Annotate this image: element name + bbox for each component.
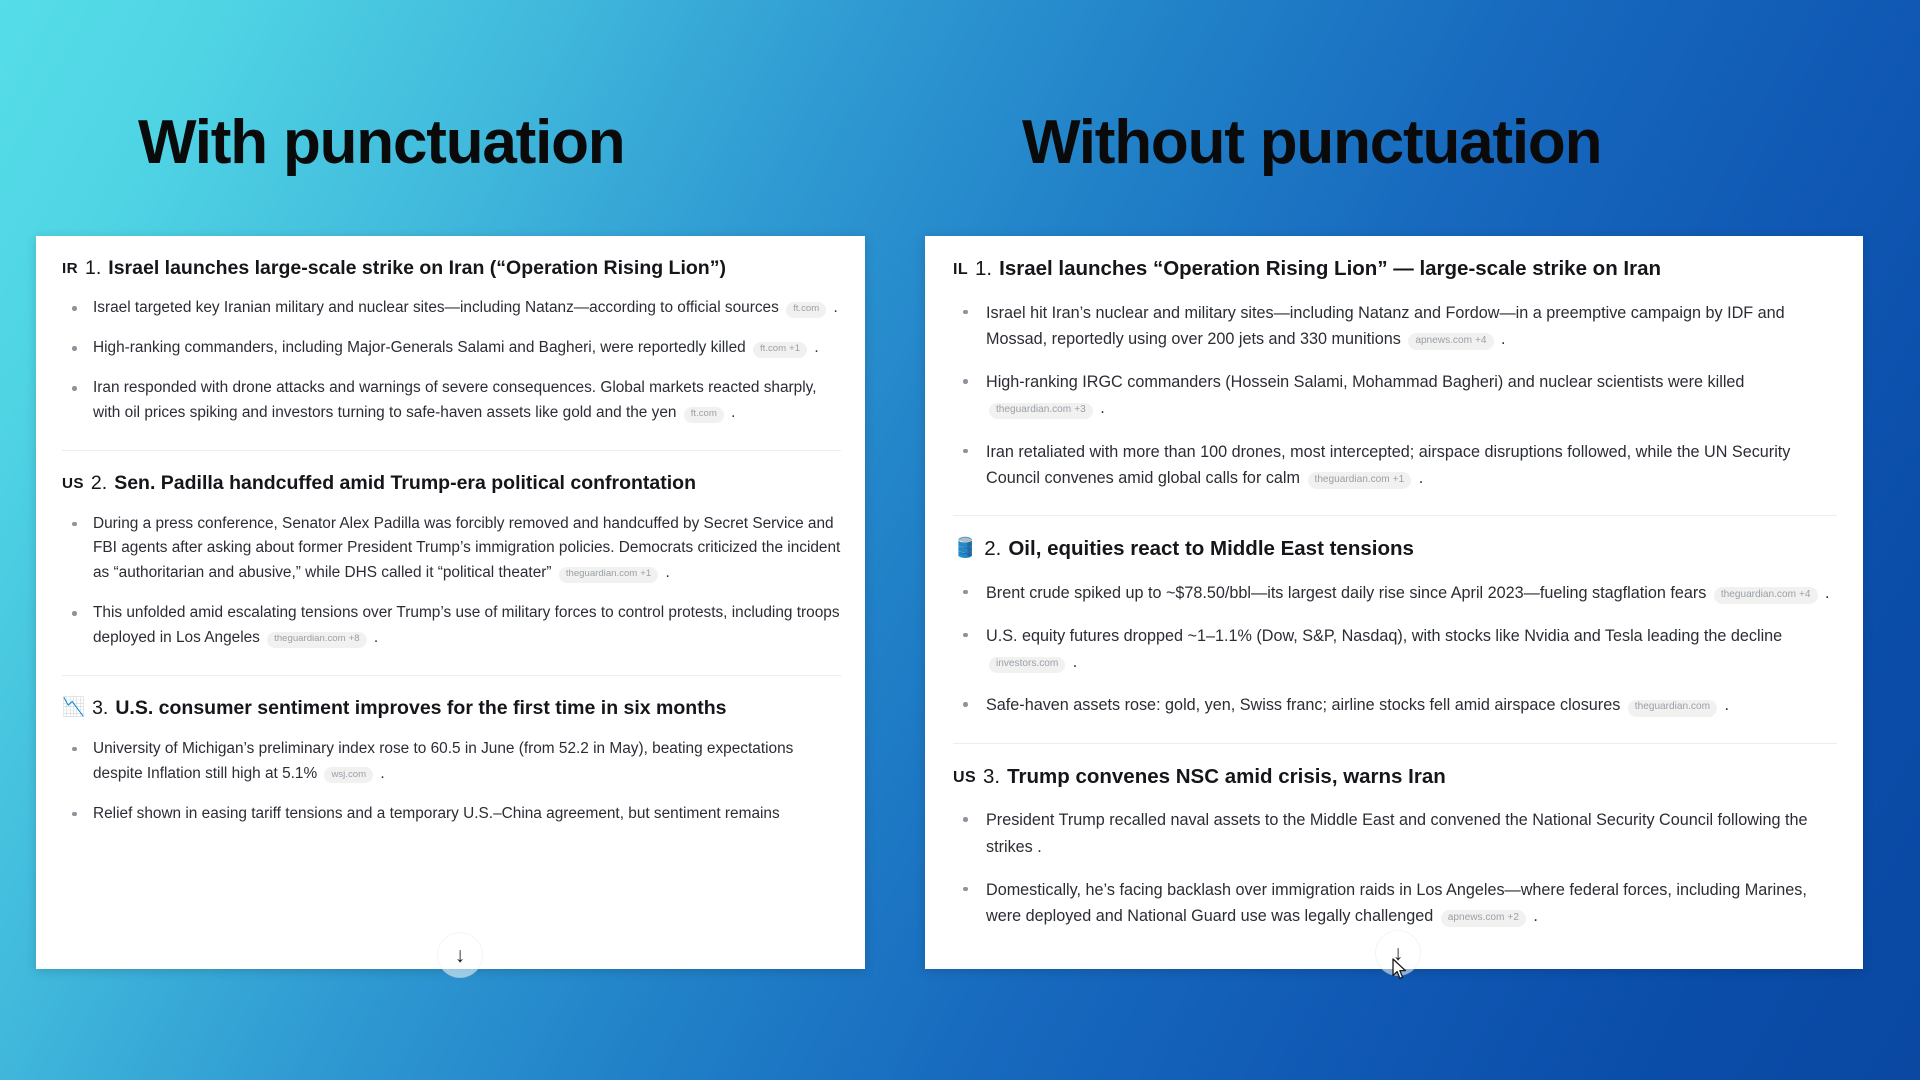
citation-source: theguardian.com (1635, 701, 1710, 712)
bullet-text: This unfolded amid escalating tensions o… (93, 604, 840, 646)
section-heading: IL1.Israel launches “Operation Rising Li… (953, 236, 1837, 283)
bullet-trailing-punctuation: . (661, 564, 670, 581)
bullet-list: Israel targeted key Iranian military and… (62, 296, 841, 426)
citation-chip[interactable]: ft.com (786, 302, 826, 318)
citation-count: +4 (1799, 589, 1811, 600)
section-title: U.S. consumer sentiment improves for the… (115, 696, 841, 721)
section-heading: US3.Trump convenes NSC amid crisis, warn… (953, 744, 1837, 791)
news-section: US3.Trump convenes NSC amid crisis, warn… (925, 744, 1863, 930)
bullet-item: Iran retaliated with more than 100 drone… (953, 439, 1837, 491)
bullet-trailing-punctuation: . (1096, 399, 1105, 417)
bullet-item: University of Michigan’s preliminary ind… (62, 737, 841, 787)
citation-source: ft.com (793, 303, 819, 314)
bullet-item: Domestically, he’s facing backlash over … (953, 877, 1837, 929)
bullet-list: University of Michigan’s preliminary ind… (62, 737, 841, 827)
bullet-text: Israel hit Iran’s nuclear and military s… (986, 304, 1785, 348)
citation-count: +2 (1507, 912, 1519, 923)
section-heading: 🛢️2.Oil, equities react to Middle East t… (953, 516, 1837, 563)
news-section: US2.Sen. Padilla handcuffed amid Trump-e… (36, 451, 865, 651)
oil-drum-icon: 🛢️ (953, 536, 977, 561)
citation-source: apnews.com (1448, 912, 1505, 923)
bullet-text: During a press conference, Senator Alex … (93, 515, 840, 582)
citation-count: +3 (1074, 404, 1086, 415)
bullet-item: Iran responded with drone attacks and wa… (62, 376, 841, 426)
section-number: 1. (85, 256, 101, 281)
bullet-item: Israel targeted key Iranian military and… (62, 296, 841, 321)
bullet-text: Domestically, he’s facing backlash over … (986, 881, 1807, 925)
bullet-trailing-punctuation: . (1414, 469, 1423, 487)
bullet-list: Brent crude spiked up to ~$78.50/bbl—its… (953, 580, 1837, 719)
citation-chip[interactable]: wsj.com (324, 767, 373, 783)
bullet-item: President Trump recalled naval assets to… (953, 807, 1837, 859)
bullet-trailing-punctuation: . (1529, 907, 1538, 925)
bullet-text: President Trump recalled naval assets to… (986, 811, 1808, 855)
bullet-text: Brent crude spiked up to ~$78.50/bbl—its… (986, 584, 1706, 602)
left-card-content: IR1.Israel launches large-scale strike o… (36, 236, 865, 969)
citation-chip[interactable]: apnews.com+4 (1408, 333, 1493, 350)
bullet-item: Safe-haven assets rose: gold, yen, Swiss… (953, 692, 1837, 718)
bullet-text: Safe-haven assets rose: gold, yen, Swiss… (986, 696, 1620, 714)
citation-source: theguardian.com (1721, 589, 1796, 600)
citation-source: ft.com (691, 408, 717, 419)
bullet-trailing-punctuation: . (1497, 330, 1506, 348)
citation-chip[interactable]: theguardian.com+1 (1308, 472, 1412, 489)
bullet-list: Israel hit Iran’s nuclear and military s… (953, 300, 1837, 491)
bullet-trailing-punctuation: . (810, 339, 819, 356)
section-number: 3. (92, 696, 108, 721)
section-number: 3. (983, 764, 1000, 791)
left-answer-card[interactable]: IR1.Israel launches large-scale strike o… (36, 236, 865, 969)
bullet-text: High-ranking IRGC commanders (Hossein Sa… (986, 373, 1744, 391)
bullet-item: High-ranking commanders, including Major… (62, 336, 841, 361)
bullet-list: During a press conference, Senator Alex … (62, 512, 841, 652)
citation-source: theguardian.com (566, 568, 637, 579)
bullet-text: High-ranking commanders, including Major… (93, 339, 746, 356)
citation-chip[interactable]: ft.com+1 (753, 342, 807, 358)
section-number: 1. (975, 256, 992, 283)
section-title: Sen. Padilla handcuffed amid Trump-era p… (114, 471, 841, 496)
chart-decreasing-icon: 📉 (62, 695, 85, 719)
bullet-item: During a press conference, Senator Alex … (62, 512, 841, 587)
citation-chip[interactable]: theguardian.com+1 (559, 567, 658, 583)
section-number: 2. (91, 471, 107, 496)
news-section: 📉3.U.S. consumer sentiment improves for … (36, 676, 865, 826)
bullet-list: President Trump recalled naval assets to… (953, 807, 1837, 929)
flag-israel-icon: IL (953, 260, 968, 281)
bullet-trailing-punctuation: . (1068, 653, 1077, 671)
slide-headings: With punctuation Without punctuation (0, 0, 1920, 236)
citation-count: +1 (1393, 474, 1405, 485)
bullet-trailing-punctuation: . (829, 299, 838, 316)
flag-united-states-icon: US (953, 768, 976, 789)
citation-chip[interactable]: theguardian.com+3 (989, 403, 1093, 420)
section-heading: US2.Sen. Padilla handcuffed amid Trump-e… (62, 451, 841, 496)
citation-count: +1 (640, 568, 651, 579)
flag-united-states-icon: US (62, 474, 84, 494)
right-panel-title: Without punctuation (1022, 112, 1601, 174)
section-heading: IR1.Israel launches large-scale strike o… (62, 236, 841, 281)
citation-chip[interactable]: ft.com (684, 407, 724, 423)
citation-chip[interactable]: investors.com (989, 657, 1065, 674)
bullet-item: Israel hit Iran’s nuclear and military s… (953, 300, 1837, 352)
news-section: IL1.Israel launches “Operation Rising Li… (925, 236, 1863, 491)
bullet-trailing-punctuation: . (1821, 584, 1830, 602)
section-number: 2. (984, 536, 1001, 563)
citation-source: theguardian.com (274, 633, 345, 644)
bullet-trailing-punctuation: . (727, 404, 736, 421)
news-section: 🛢️2.Oil, equities react to Middle East t… (925, 516, 1863, 719)
bullet-item: Brent crude spiked up to ~$78.50/bbl—its… (953, 580, 1837, 606)
citation-source: investors.com (996, 658, 1058, 669)
left-panel-title: With punctuation (138, 112, 624, 174)
bullet-item: This unfolded amid escalating tensions o… (62, 601, 841, 651)
citation-count: +8 (349, 633, 360, 644)
bullet-text: U.S. equity futures dropped ~1–1.1% (Dow… (986, 627, 1782, 645)
section-title: Israel launches large-scale strike on Ir… (108, 256, 841, 281)
citation-count: +1 (789, 343, 800, 354)
section-title: Israel launches “Operation Rising Lion” … (999, 256, 1837, 283)
citation-count: +4 (1475, 335, 1487, 346)
bullet-trailing-punctuation: . (1033, 838, 1042, 856)
citation-source: ft.com (760, 343, 786, 354)
flag-iran-icon: IR (62, 259, 78, 279)
bullet-text: Israel targeted key Iranian military and… (93, 299, 779, 316)
bullet-item: Relief shown in easing tariff tensions a… (62, 802, 841, 827)
citation-chip[interactable]: theguardian.com+8 (267, 632, 366, 648)
bullet-trailing-punctuation: . (376, 765, 385, 782)
citation-source: apnews.com (1415, 335, 1472, 346)
news-section: IR1.Israel launches large-scale strike o… (36, 236, 865, 426)
bullet-text: Relief shown in easing tariff tensions a… (93, 805, 780, 822)
citation-chip[interactable]: theguardian.com (1628, 700, 1717, 717)
bullet-trailing-punctuation: . (370, 629, 379, 646)
right-answer-card[interactable]: IL1.Israel launches “Operation Rising Li… (925, 236, 1863, 969)
section-heading: 📉3.U.S. consumer sentiment improves for … (62, 676, 841, 721)
section-title: Trump convenes NSC amid crisis, warns Ir… (1007, 764, 1837, 791)
citation-source: theguardian.com (1315, 474, 1390, 485)
citation-source: theguardian.com (996, 404, 1071, 415)
citation-chip[interactable]: apnews.com+2 (1441, 910, 1526, 927)
citation-source: wsj.com (331, 769, 366, 780)
bullet-trailing-punctuation: . (1720, 696, 1729, 714)
right-card-content: IL1.Israel launches “Operation Rising Li… (925, 236, 1863, 969)
bullet-item: High-ranking IRGC commanders (Hossein Sa… (953, 369, 1837, 421)
section-title: Oil, equities react to Middle East tensi… (1008, 536, 1837, 563)
bullet-item: U.S. equity futures dropped ~1–1.1% (Dow… (953, 623, 1837, 675)
bullet-text: University of Michigan’s preliminary ind… (93, 740, 793, 782)
citation-chip[interactable]: theguardian.com+4 (1714, 587, 1818, 604)
